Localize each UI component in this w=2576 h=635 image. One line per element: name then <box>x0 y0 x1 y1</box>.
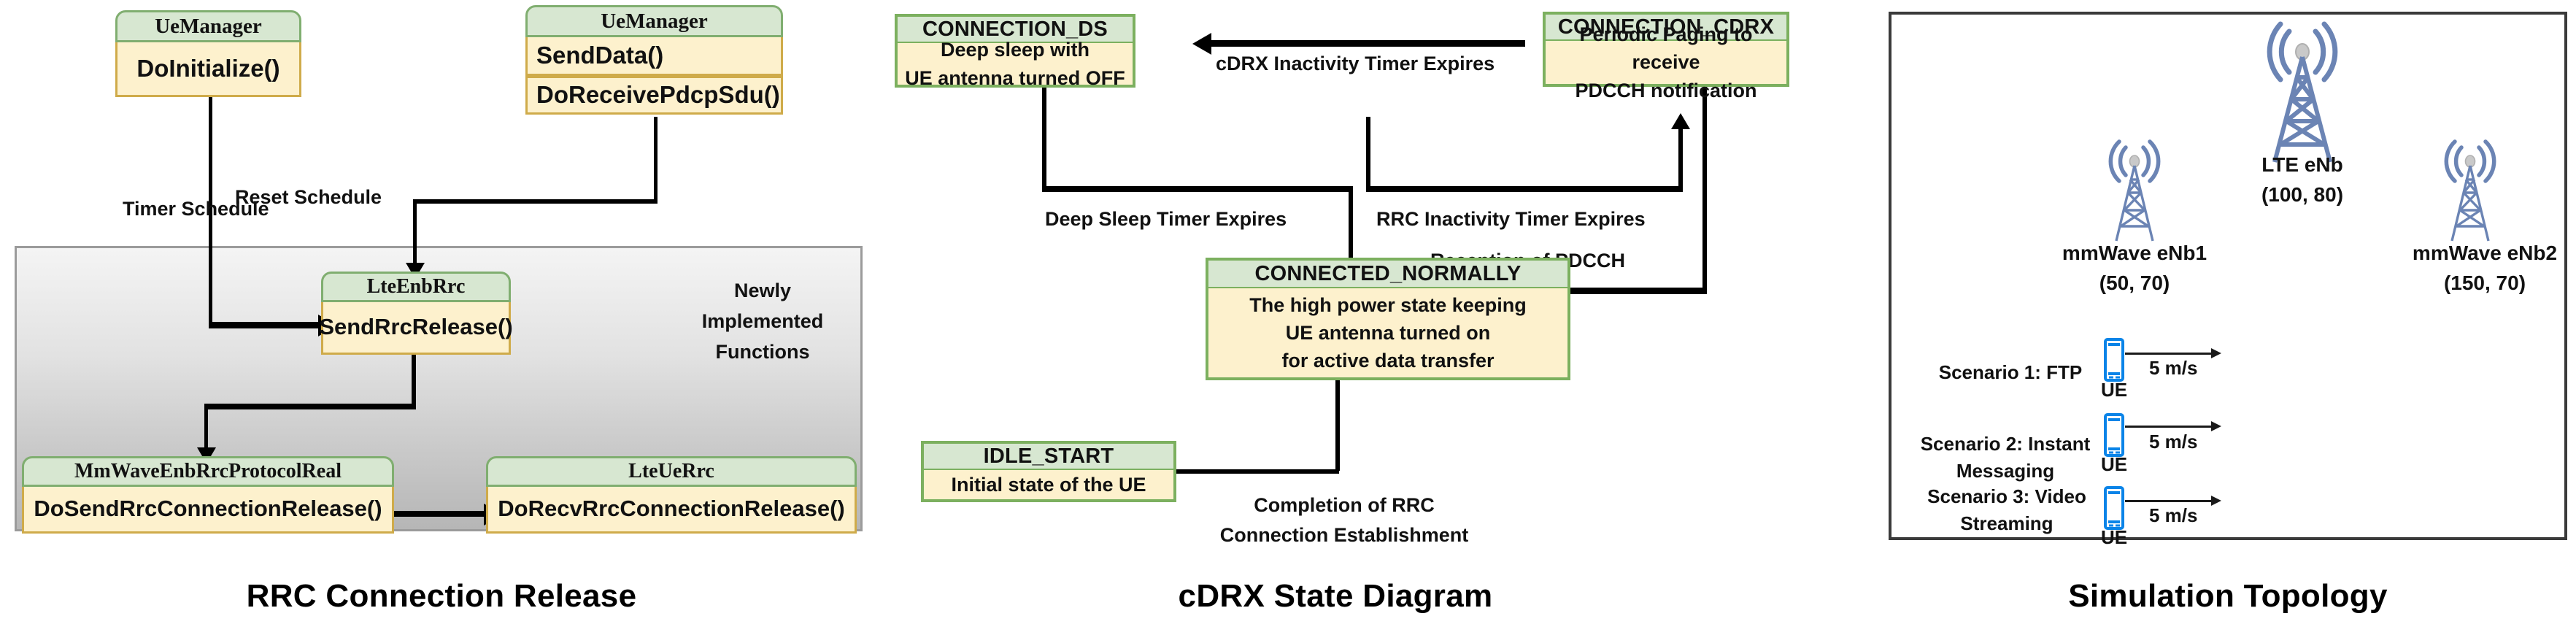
speed-label-3: 5 m/s <box>2149 504 2198 527</box>
transition-cn-to-cdrx-vertical-a <box>1366 117 1370 190</box>
scenario-label-line-2: Messaging <box>1896 458 2115 485</box>
edge-sendrelease-vertical-b <box>204 404 208 450</box>
newly-implemented-zone-label: Newly Implemented Functions <box>679 276 847 368</box>
scenario-label-line-2: Streaming <box>1897 510 2116 537</box>
edge-sendrelease-horizontal <box>204 404 416 409</box>
edge-reset-schedule-horizontal <box>416 199 658 204</box>
class-box-uemanager-initialize[interactable]: UeManager DoInitialize() <box>115 10 301 97</box>
tower-icon <box>2244 19 2361 165</box>
class-box-header: UeManager <box>525 5 783 37</box>
tower-mmwave-enb1 <box>2094 137 2175 243</box>
transition-label-rrc-inactivity: RRC Inactivity Timer Expires <box>1376 208 1646 231</box>
transition-cn-to-cdrx-horizontal <box>1366 186 1683 192</box>
antenna-top-icon <box>2130 155 2140 167</box>
antenna-top-icon <box>2466 155 2475 167</box>
panel-title-topology: Simulation Topology <box>1889 578 2567 615</box>
tower-icon <box>2430 137 2510 243</box>
node-label-lte-enb: LTE eNb (100, 80) <box>2229 150 2375 209</box>
state-box-description: Periodic Paging to receive PDCCH notific… <box>1543 41 1789 87</box>
panel-title-cdrx: cDRX State Diagram <box>912 578 1759 615</box>
transition-idle-to-cn-horizontal <box>1175 469 1339 474</box>
motion-arrow-head-1 <box>2211 348 2221 358</box>
phone-icon <box>2103 412 2125 458</box>
state-box-description: Initial state of the UE <box>921 470 1176 502</box>
node-label-mmwave-enb2: mmWave eNb2 (150, 70) <box>2401 239 2569 298</box>
transition-ds-to-cn-horizontal <box>1042 186 1353 192</box>
edge-reset-schedule-vertical-down <box>413 199 417 265</box>
state-desc-line-2: UE antenna turned on <box>1286 319 1491 347</box>
figure-root: Newly Implemented Functions Timer Schedu… <box>0 0 2576 635</box>
motion-arrow-head-3 <box>2211 496 2221 506</box>
class-box-method: SendData() <box>525 37 783 76</box>
speed-label-2: 5 m/s <box>2149 431 2198 453</box>
edge-reset-schedule-vertical-right <box>654 117 658 203</box>
state-desc-line-1: Deep sleep with <box>941 36 1090 64</box>
motion-arrow-line-3 <box>2125 500 2213 502</box>
node-coords: (100, 80) <box>2229 180 2375 210</box>
state-desc-line-3: for active data transfer <box>1281 347 1494 374</box>
state-desc-line-1: The high power state keeping <box>1249 291 1527 319</box>
transition-label-deep-sleep-timer: Deep Sleep Timer Expires <box>1045 208 1287 231</box>
state-desc-line-1: Periodic Paging to receive <box>1550 20 1782 77</box>
zone-label-line-3: Functions <box>679 337 847 368</box>
transition-label-line-2: Connection Establishment <box>1213 520 1476 550</box>
class-box-lteenbrrc[interactable]: LteEnbRrc SendRrcRelease() <box>321 272 511 355</box>
motion-arrow-head-2 <box>2211 421 2221 431</box>
class-box-method: DoRecvRrcConnectionRelease() <box>486 487 857 534</box>
state-box-connection-ds[interactable]: CONNECTION_DS Deep sleep with UE antenna… <box>895 14 1135 88</box>
node-label-mmwave-enb1: mmWave eNb1 (50, 70) <box>2051 239 2218 298</box>
transition-cn-to-cdrx-arrowhead <box>1671 113 1690 129</box>
phone-icon <box>2103 485 2125 531</box>
edge-label-reset-schedule: Reset Schedule <box>235 186 382 209</box>
transition-cdrx-to-ds-arrowhead <box>1192 33 1211 55</box>
edge-sendrelease-vertical-a <box>412 353 416 408</box>
state-box-title: IDLE_START <box>921 441 1176 470</box>
transition-cn-to-cdrx-vertical-b <box>1678 128 1683 190</box>
node-name: mmWave eNb2 <box>2401 239 2569 269</box>
node-coords: (150, 70) <box>2401 269 2569 299</box>
state-box-connection-cdrx[interactable]: CONNECTION_CDRX Periodic Paging to recei… <box>1543 12 1789 87</box>
class-box-header: UeManager <box>115 10 301 42</box>
tower-lte-enb <box>2244 19 2361 165</box>
scenario-label-line-1: Scenario 1: FTP <box>1905 359 2116 386</box>
scenario-label-line-1: Scenario 3: Video <box>1897 483 2116 510</box>
state-box-connected-normally[interactable]: CONNECTED_NORMALLY The high power state … <box>1206 258 1570 380</box>
edge-timer-schedule-horizontal <box>209 322 320 328</box>
phone-icon <box>2103 337 2125 382</box>
state-box-idle-start[interactable]: IDLE_START Initial state of the UE <box>921 441 1176 502</box>
state-box-title: CONNECTED_NORMALLY <box>1206 258 1570 288</box>
speed-label-1: 5 m/s <box>2149 357 2198 380</box>
state-desc-line-2: UE antenna turned OFF <box>905 64 1125 92</box>
zone-label-line-1: Newly <box>679 276 847 307</box>
transition-label-cdrx-inactivity: cDRX Inactivity Timer Expires <box>1216 53 1495 75</box>
class-box-header: LteUeRrc <box>486 456 857 487</box>
zone-label-line-2: Implemented <box>679 307 847 337</box>
motion-arrow-line-2 <box>2125 426 2213 428</box>
transition-label-completion-rrc: Completion of RRC Connection Establishme… <box>1213 490 1476 550</box>
transition-label-line-1: Completion of RRC <box>1213 490 1476 520</box>
state-desc-line-2: PDCCH notification <box>1576 77 1757 104</box>
class-box-lteuerrc[interactable]: LteUeRrc DoRecvRrcConnectionRelease() <box>486 456 857 534</box>
class-box-method: DoInitialize() <box>115 42 301 97</box>
class-box-method: SendRrcRelease() <box>321 302 511 355</box>
motion-arrow-line-1 <box>2125 353 2213 355</box>
panel-title-rrc: RRC Connection Release <box>0 578 883 615</box>
ue-text-label-1: UE <box>2097 379 2131 401</box>
state-box-description: Deep sleep with UE antenna turned OFF <box>895 43 1135 88</box>
class-box-header: MmWaveEnbRrcProtocolReal <box>22 456 394 487</box>
node-name: LTE eNb <box>2229 150 2375 180</box>
class-box-header: LteEnbRrc <box>321 272 511 302</box>
class-box-method: DoReceivePdcpSdu() <box>525 76 783 115</box>
scenario-label-line-1: Scenario 2: Instant <box>1896 431 2115 458</box>
tower-mmwave-enb2 <box>2430 137 2510 243</box>
edge-release-handoff-line <box>391 511 490 517</box>
scenario-label-3: Scenario 3: Video Streaming <box>1897 483 2116 537</box>
node-name: mmWave eNb1 <box>2051 239 2218 269</box>
tower-icon <box>2094 137 2175 243</box>
state-box-description: The high power state keeping UE antenna … <box>1206 288 1570 380</box>
ue-text-label-3: UE <box>2097 526 2131 549</box>
class-box-uemanager-senddata[interactable]: UeManager SendData() DoReceivePdcpSdu() <box>525 5 783 115</box>
class-box-mmwaveenbrrcprotocolreal[interactable]: MmWaveEnbRrcProtocolReal DoSendRrcConnec… <box>22 456 394 534</box>
scenario-label-1: Scenario 1: FTP <box>1905 359 2116 386</box>
node-coords: (50, 70) <box>2051 269 2218 299</box>
ue-text-label-2: UE <box>2097 453 2131 476</box>
class-box-method: DoSendRrcConnectionRelease() <box>22 487 394 534</box>
state-desc-line-1: Initial state of the UE <box>951 471 1146 499</box>
transition-cdrx-to-ds-line <box>1211 40 1525 47</box>
scenario-label-2: Scenario 2: Instant Messaging <box>1896 431 2115 485</box>
